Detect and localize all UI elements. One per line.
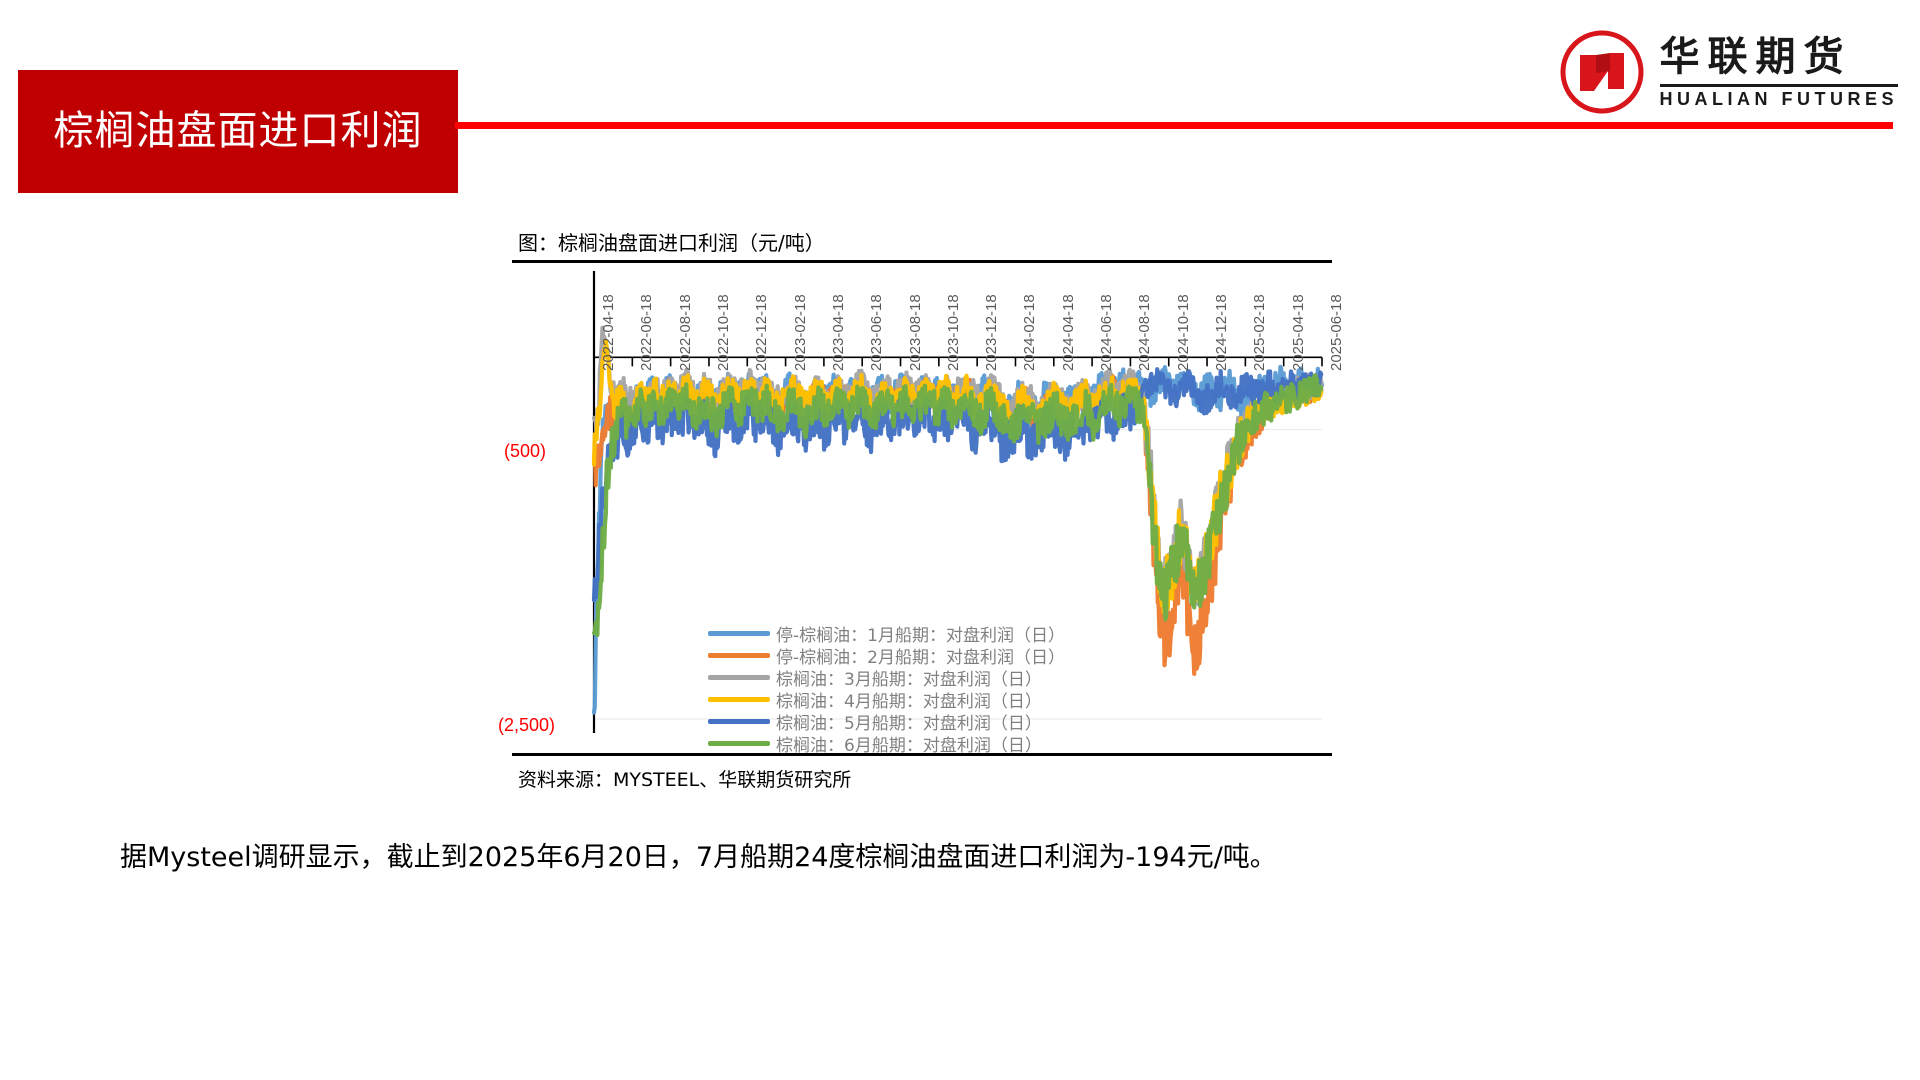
logo-cn-name: 华联期货 — [1660, 36, 1899, 79]
x-axis-tick-label: 2025-06-18 — [1328, 294, 1345, 371]
legend-item[interactable]: 棕榈油：3月船期：对盘利润（日） — [708, 667, 1065, 688]
legend-item[interactable]: 停-棕榈油：1月船期：对盘利润（日） — [708, 623, 1065, 644]
page-title: 棕榈油盘面进口利润 — [54, 109, 423, 155]
chart-title: 图：棕榈油盘面进口利润（元/吨） — [512, 230, 1332, 256]
x-axis-tick-label: 2025-02-18 — [1251, 294, 1268, 371]
legend-item[interactable]: 棕榈油：4月船期：对盘利润（日） — [708, 689, 1065, 710]
x-axis-tick-label: 2024-12-18 — [1213, 294, 1230, 371]
x-axis-tick-label: 2023-10-18 — [945, 294, 962, 371]
slide-title-banner: 棕榈油盘面进口利润 — [18, 70, 458, 193]
logo-text-block: 华联期货 HUALIAN FUTURES — [1660, 36, 1899, 107]
slide-root: 棕榈油盘面进口利润 华联期货 HUALIAN FUTURES 图：棕榈油盘面进口… — [0, 0, 1920, 1080]
x-axis-tick-label: 2025-04-18 — [1290, 294, 1307, 371]
x-axis-tick-label: 2023-02-18 — [792, 294, 809, 371]
x-axis-tick-label: 2024-04-18 — [1060, 294, 1077, 371]
y-axis-tick-500: (500) — [504, 441, 546, 462]
header-rule — [455, 122, 1893, 129]
x-axis-tick-label: 2022-04-18 — [600, 294, 617, 371]
legend-color-swatch — [708, 697, 770, 702]
x-axis-tick-label: 2023-08-18 — [907, 294, 924, 371]
x-axis-tick-label: 2023-12-18 — [983, 294, 1000, 371]
company-logo: 华联期货 HUALIAN FUTURES — [1558, 26, 1899, 118]
x-axis-tick-label: 2023-06-18 — [868, 294, 885, 371]
logo-divider — [1660, 84, 1899, 87]
legend-item[interactable]: 棕榈油：5月船期：对盘利润（日） — [708, 711, 1065, 732]
legend-item[interactable]: 棕榈油：6月船期：对盘利润（日） — [708, 733, 1065, 754]
chart-plot-area: (500) (2,500) 2022-04-182022-06-182022-0… — [512, 263, 1332, 753]
x-axis-tick-label: 2022-10-18 — [715, 294, 732, 371]
y-axis-tick-2500: (2,500) — [498, 715, 555, 736]
logo-en-name: HUALIAN FUTURES — [1660, 90, 1899, 108]
legend-color-swatch — [708, 653, 770, 658]
legend-color-swatch — [708, 675, 770, 680]
chart-legend: 停-棕榈油：1月船期：对盘利润（日）停-棕榈油：2月船期：对盘利润（日）棕榈油：… — [708, 623, 1065, 754]
hualian-n-monogram-icon — [1558, 28, 1646, 116]
legend-color-swatch — [708, 719, 770, 724]
x-axis-tick-label: 2024-06-18 — [1098, 294, 1115, 371]
x-axis-tick-label: 2023-04-18 — [830, 294, 847, 371]
x-axis-tick-label: 2024-08-18 — [1136, 294, 1153, 371]
chart-source: 资料来源：MYSTEEL、华联期货研究所 — [512, 756, 1332, 792]
legend-label: 棕榈油：6月船期：对盘利润（日） — [776, 731, 1042, 756]
slide-caption: 据Mysteel调研显示，截止到2025年6月20日，7月船期24度棕榈油盘面进… — [120, 838, 1820, 879]
legend-color-swatch — [708, 631, 770, 636]
x-axis-tick-label: 2024-02-18 — [1021, 294, 1038, 371]
x-axis-tick-label: 2024-10-18 — [1175, 294, 1192, 371]
x-axis-tick-label: 2022-08-18 — [677, 294, 694, 371]
legend-item[interactable]: 停-棕榈油：2月船期：对盘利润（日） — [708, 645, 1065, 666]
legend-color-swatch — [708, 741, 770, 746]
chart-block: 图：棕榈油盘面进口利润（元/吨） (500) (2,500) 2022-04-1… — [512, 230, 1332, 790]
x-axis-tick-label: 2022-06-18 — [638, 294, 655, 371]
x-axis-tick-label: 2022-12-18 — [753, 294, 770, 371]
